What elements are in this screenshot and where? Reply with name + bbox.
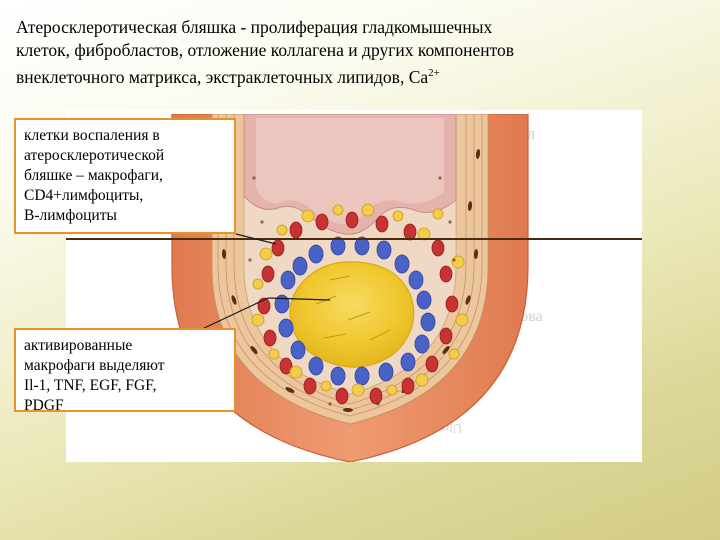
callout-2-line-2: макрофаги выделяют bbox=[24, 356, 226, 376]
callout-2-line-4: PDGF bbox=[24, 396, 226, 416]
lipid-necrotic-core bbox=[290, 262, 414, 367]
callout-2-line-1: активированные bbox=[24, 336, 226, 356]
page-title: Атеросклеротическая бляшка - пролифераци… bbox=[16, 16, 706, 89]
title-line-3: внеклеточного матрикса, экстраклеточных … bbox=[16, 67, 428, 87]
callout-activated-macrophages: активированные макрофаги выделяют Il-1, … bbox=[14, 328, 236, 412]
callout-1-line-5: В-лимфоциты bbox=[24, 206, 226, 226]
horizontal-guide-line bbox=[66, 238, 642, 240]
callout-1-line-1: клетки воспаления в bbox=[24, 126, 226, 146]
callout-2-line-3: Il-1, TNF, EGF, FGF, bbox=[24, 376, 226, 396]
callout-1-line-3: бляшке – макрофаги, bbox=[24, 166, 226, 186]
title-line-2: клеток, фибробластов, отложение коллаген… bbox=[16, 40, 514, 60]
title-superscript: 2+ bbox=[428, 67, 440, 79]
callout-1-line-4: CD4+лимфоциты, bbox=[24, 186, 226, 206]
callout-inflammation-cells: клетки воспаления в атеросклеротической … bbox=[14, 118, 236, 234]
slide: Атеросклеротическая бляшка - пролифераци… bbox=[0, 0, 720, 540]
callout-1-line-2: атеросклеротической bbox=[24, 146, 226, 166]
title-line-1: Атеросклеротическая бляшка - пролифераци… bbox=[16, 17, 492, 37]
